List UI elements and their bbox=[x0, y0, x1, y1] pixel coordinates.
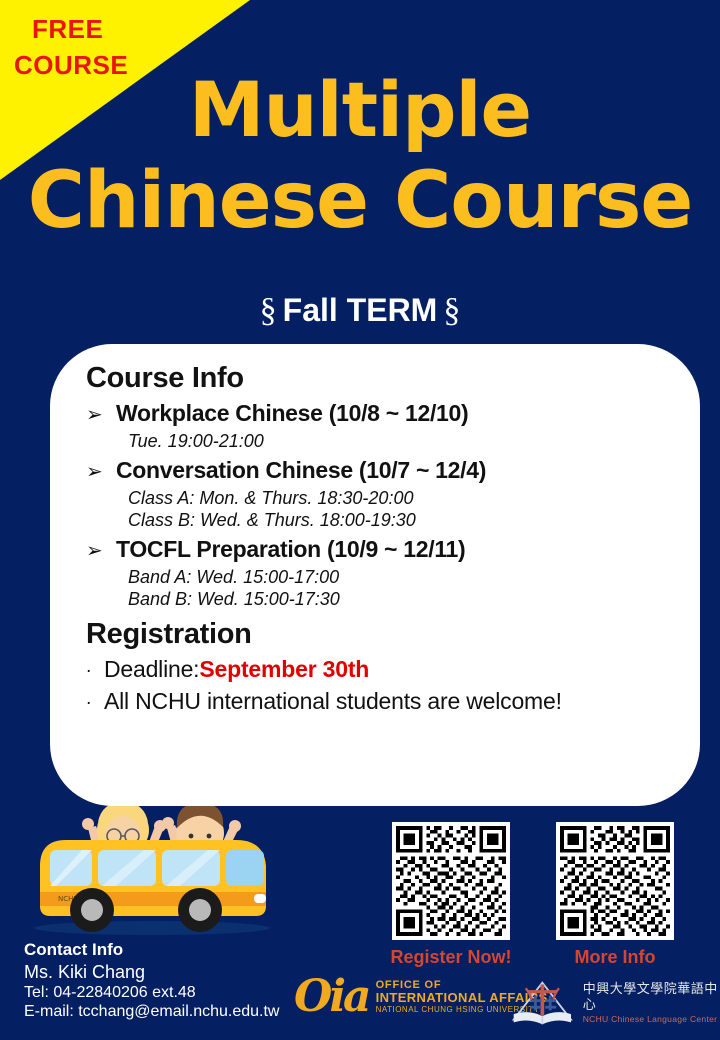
register-qr-block[interactable]: Register Now! bbox=[380, 822, 522, 968]
dot-bullet-icon: · bbox=[86, 662, 104, 682]
course-time: Band A: Wed. 15:00-17:00 bbox=[128, 567, 674, 588]
deadline-value: September 30th bbox=[199, 656, 369, 683]
section-sign-right: § bbox=[437, 292, 466, 329]
course-item: ➢ Conversation Chinese (10/7 ~ 12/4) bbox=[86, 457, 674, 484]
course-info-heading: Course Info bbox=[86, 362, 674, 395]
contact-heading: Contact Info bbox=[24, 940, 279, 960]
info-card: Course Info ➢ Workplace Chinese (10/8 ~ … bbox=[50, 344, 700, 806]
course-time: Class B: Wed. & Thurs. 18:00-19:30 bbox=[128, 510, 674, 531]
more-info-qr-icon[interactable] bbox=[556, 822, 674, 940]
bus-window bbox=[226, 850, 264, 886]
course-item: ➢ Workplace Chinese (10/8 ~ 12/10) bbox=[86, 400, 674, 427]
dot-bullet-icon: · bbox=[86, 694, 104, 714]
more-info-qr-caption: More Info bbox=[544, 947, 686, 968]
chinese-language-center-logo: 中興大學文學院華語中心 NCHU Chinese Language Center bbox=[510, 975, 720, 1031]
register-qr-icon[interactable] bbox=[392, 822, 510, 940]
registration-heading: Registration bbox=[86, 618, 674, 651]
bus-shadow bbox=[34, 921, 270, 935]
bus-svg: NCHU bbox=[22, 800, 287, 945]
contact-phone: Tel: 04-22840206 ext.48 bbox=[24, 984, 279, 1002]
clc-english-name: NCHU Chinese Language Center bbox=[583, 1014, 720, 1024]
arrow-bullet-icon: ➢ bbox=[86, 538, 116, 562]
clc-chinese-name: 中興大學文學院華語中心 bbox=[583, 982, 720, 1013]
arrow-bullet-icon: ➢ bbox=[86, 402, 116, 426]
ribbon-line-course: COURSE bbox=[14, 50, 128, 81]
welcome-text: All NCHU international students are welc… bbox=[104, 688, 562, 715]
registration-welcome-row: · All NCHU international students are we… bbox=[86, 688, 674, 715]
poster-root: FREE COURSE Multiple Chinese Course §Fal… bbox=[0, 0, 720, 1040]
title-line-chinese-course: Chinese Course bbox=[0, 162, 720, 240]
contact-name: Ms. Kiki Chang bbox=[24, 962, 279, 983]
ribbon-line-free: FREE bbox=[32, 14, 103, 45]
course-title: TOCFL Preparation (10/9 ~ 12/11) bbox=[116, 536, 465, 563]
more-info-qr-block[interactable]: More Info bbox=[544, 822, 686, 968]
course-title: Workplace Chinese (10/8 ~ 12/10) bbox=[116, 400, 468, 427]
course-item: ➢ TOCFL Preparation (10/9 ~ 12/11) bbox=[86, 536, 674, 563]
contact-info: Contact Info Ms. Kiki Chang Tel: 04-2284… bbox=[24, 940, 279, 1021]
clc-logo-text: 中興大學文學院華語中心 NCHU Chinese Language Center bbox=[583, 982, 720, 1023]
bus-door-light bbox=[254, 894, 266, 903]
school-bus-illustration: NCHU bbox=[22, 800, 287, 945]
contact-email: E-mail: tcchang@email.nchu.edu.tw bbox=[24, 1003, 279, 1021]
term-label: Fall TERM bbox=[283, 292, 438, 328]
arrow-bullet-icon: ➢ bbox=[86, 459, 116, 483]
section-sign-left: § bbox=[254, 292, 283, 329]
course-time: Tue. 19:00-21:00 bbox=[128, 431, 674, 452]
register-qr-caption: Register Now! bbox=[380, 947, 522, 968]
term-subtitle: §Fall TERM§ bbox=[0, 292, 720, 330]
oia-wordmark: Oia bbox=[294, 975, 369, 1019]
open-book-crest-icon bbox=[510, 975, 575, 1031]
course-time: Class A: Mon. & Thurs. 18:30-20:00 bbox=[128, 488, 674, 509]
course-time: Band B: Wed. 15:00-17:30 bbox=[128, 589, 674, 610]
deadline-label: Deadline: bbox=[104, 656, 199, 683]
registration-deadline-row: · Deadline: September 30th bbox=[86, 656, 674, 683]
course-title: Conversation Chinese (10/7 ~ 12/4) bbox=[116, 457, 486, 484]
